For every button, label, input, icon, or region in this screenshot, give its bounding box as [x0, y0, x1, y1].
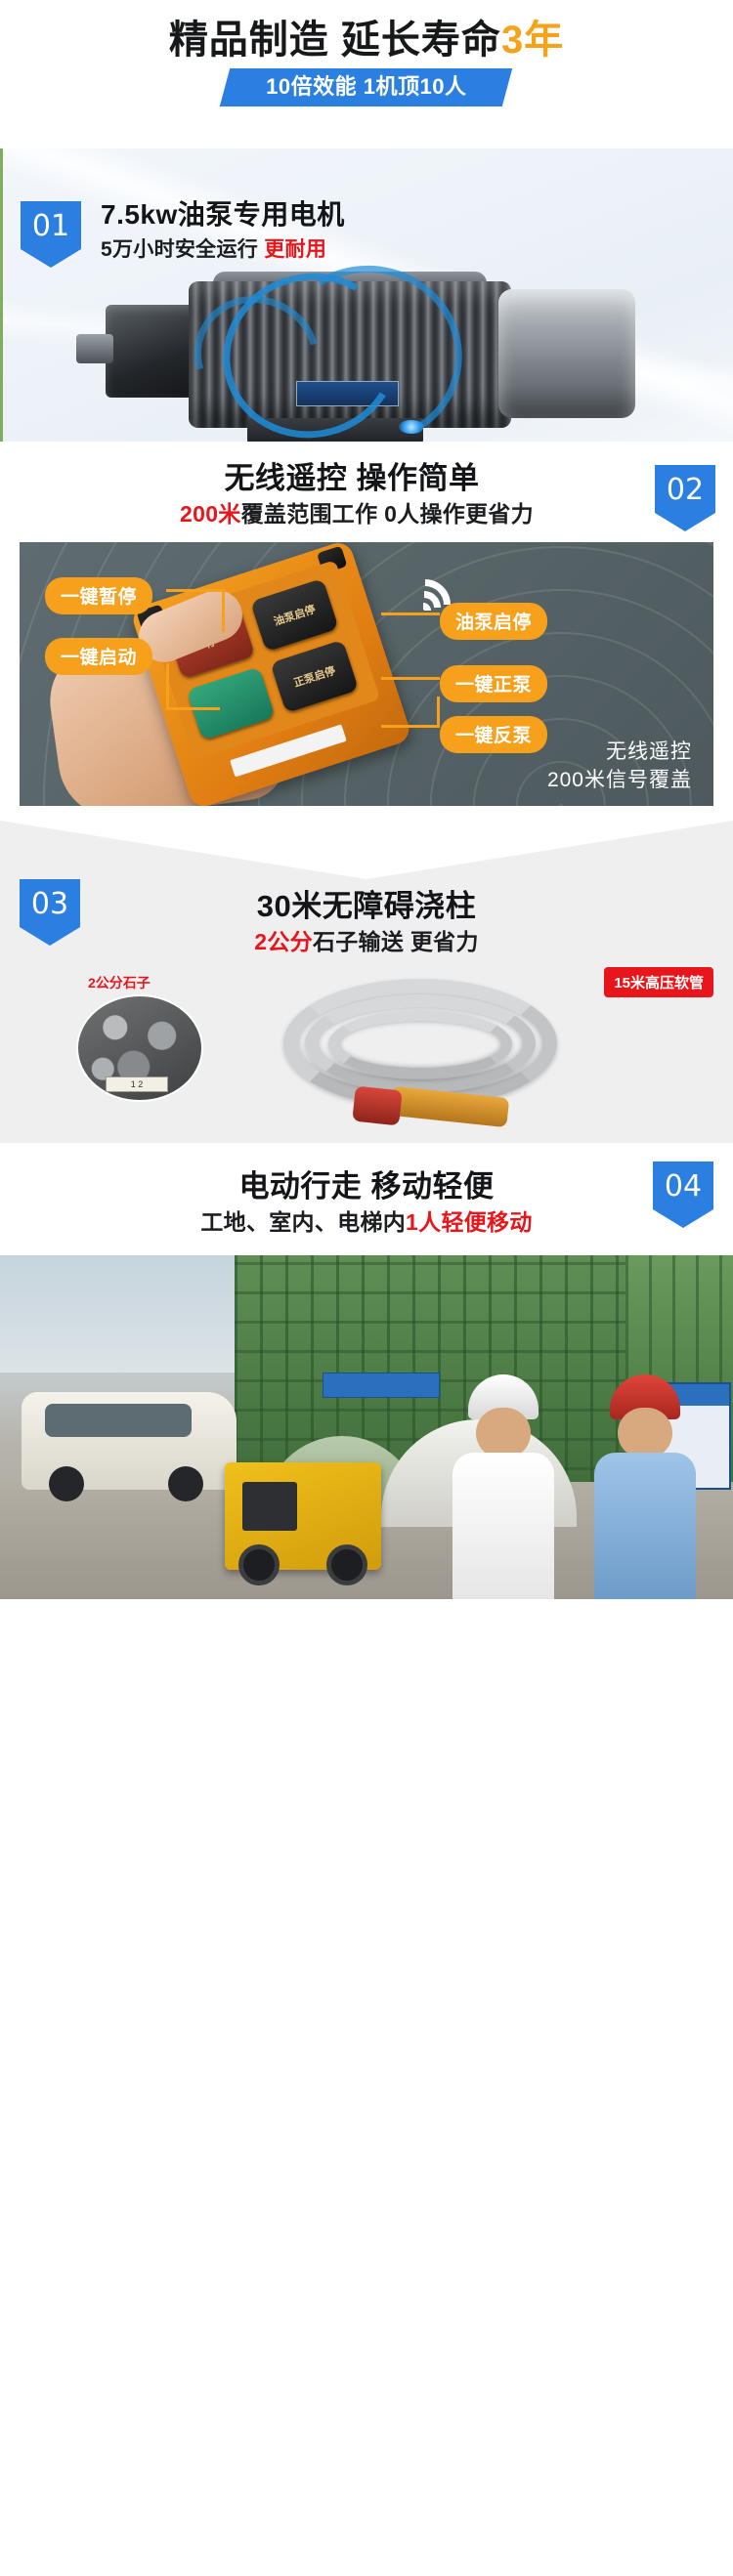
hose-ring [328, 1010, 512, 1078]
remote-caption: 无线遥控 200米信号覆盖 [547, 738, 692, 794]
worker-red-helmet [586, 1374, 704, 1599]
product-detail-page: 精品制造 延长寿命3年 10倍效能 1机顶10人 [0, 0, 733, 2576]
page-title-accent: 3年 [501, 19, 564, 62]
section-03-subtitle-plain: 石子输送 更省力 [313, 929, 479, 954]
callout-start: 一键启动 [45, 638, 152, 675]
section-04-subtitle: 工地、室内、电梯内1人轻便移动 [0, 1206, 733, 1238]
white-van [22, 1392, 237, 1490]
section-01-header: 7.5kw油泵专用电机 5万小时安全运行 更耐用 [3, 195, 733, 266]
motor-shaft [76, 334, 113, 363]
callout-pump-toggle: 油泵启停 [440, 603, 547, 640]
section-04-header: 04 电动行走 移动轻便 工地、室内、电梯内1人轻便移动 [0, 1167, 733, 1238]
motor-fan-hood [498, 289, 635, 418]
remote-key-forward-pump[interactable]: 正泵启停 [270, 640, 359, 713]
construction-site-photo [0, 1255, 733, 1599]
page-title: 精品制造 延长寿命3年 [0, 16, 733, 64]
callout-lead-line [166, 663, 220, 710]
van-wheel [49, 1466, 84, 1501]
callout-lead-line [381, 677, 440, 680]
motor-illustration [76, 264, 663, 442]
callout-pause: 一键暂停 [45, 577, 152, 614]
worker-torso [453, 1453, 554, 1599]
worker-head [618, 1408, 672, 1458]
stone-size-tag: 2公分石子 [88, 973, 151, 992]
machine-wheel [326, 1544, 367, 1585]
section-03-subtitle-highlight: 2公分 [254, 929, 313, 954]
chevron-divider [0, 821, 733, 879]
van-wheel [168, 1466, 203, 1501]
section-02-title: 无线遥控 操作简单 [0, 459, 733, 498]
header-banner: 10倍效能 1机顶10人 [220, 68, 513, 106]
section-02-header: 02 无线遥控 操作简单 200米覆盖范围工作 0人操作更省力 [0, 459, 733, 529]
callout-forward-pump: 一键正泵 [440, 665, 547, 702]
worker-torso [594, 1453, 696, 1599]
section-04-subtitle-highlight: 1人轻便移动 [406, 1209, 533, 1235]
section-01-subtitle: 5万小时安全运行 更耐用 [101, 234, 733, 266]
worker-head [476, 1408, 531, 1458]
callout-reverse-pump: 一键反泵 [440, 716, 547, 753]
van-window [45, 1404, 192, 1437]
header-banner-wrap: 10倍效能 1机顶10人 [0, 68, 733, 106]
ruler-icon: 1 2 [106, 1077, 168, 1092]
yellow-concrete-pump-machine [225, 1462, 381, 1570]
remote-key-pump-toggle[interactable]: 油泵启停 [250, 578, 339, 652]
section-01-subtitle-highlight: 更耐用 [264, 238, 326, 261]
machine-control-panel [242, 1482, 297, 1531]
site-signboard [323, 1372, 440, 1398]
wireless-remote-control-photo: 停 油泵启停 正泵启停 一键暂停 一键启动 油泵启停 一键正泵 一键反泵 无线遥… [20, 542, 713, 806]
section-04-subtitle-plain: 工地、室内、电梯内 [200, 1209, 406, 1235]
high-pressure-hose-photo: 15米高压软管 2公分石子 1 2 [0, 967, 733, 1143]
section-01: 01 7.5kw油泵专用电机 5万小时安全运行 更耐用 [0, 148, 733, 442]
callout-lead-line [166, 589, 225, 632]
section-03-subtitle: 2公分石子输送 更省力 [0, 926, 733, 957]
worker-white-helmet [445, 1374, 562, 1599]
led-glow-icon [399, 420, 424, 434]
section-02-subtitle: 200米覆盖范围工作 0人操作更省力 [0, 498, 733, 529]
section-02-subtitle-plain: 覆盖范围工作 0人操作更省力 [241, 501, 534, 527]
page-header: 精品制造 延长寿命3年 10倍效能 1机顶10人 [0, 0, 733, 106]
section-01-subtitle-plain: 5万小时安全运行 [101, 238, 264, 261]
remote-caption-line1: 无线遥控 [547, 738, 692, 766]
section-01-title: 7.5kw油泵专用电机 [101, 195, 733, 234]
remote-caption-line2: 200米信号覆盖 [547, 766, 692, 794]
callout-lead-line [381, 697, 440, 728]
section-03: 03 30米无障碍浇柱 2公分石子输送 更省力 15米高压软管 2公分石子 1 … [0, 821, 733, 1143]
header-banner-label: 10倍效能 1机顶10人 [266, 70, 466, 104]
section-03-title: 30米无障碍浇柱 [0, 887, 733, 926]
page-title-main: 精品制造 延长寿命 [169, 19, 501, 62]
section-03-header: 03 30米无障碍浇柱 2公分石子输送 更省力 [0, 887, 733, 957]
oil-pump-motor-photo [3, 148, 733, 442]
hose-end-cap [352, 1086, 403, 1126]
callout-lead-line [381, 612, 440, 615]
hose-coil-illustration [244, 973, 635, 1134]
section-04-title: 电动行走 移动轻便 [0, 1167, 733, 1206]
machine-wheel [238, 1544, 280, 1585]
section-02-subtitle-highlight: 200米 [180, 501, 241, 527]
motor-junction-box [106, 305, 198, 398]
